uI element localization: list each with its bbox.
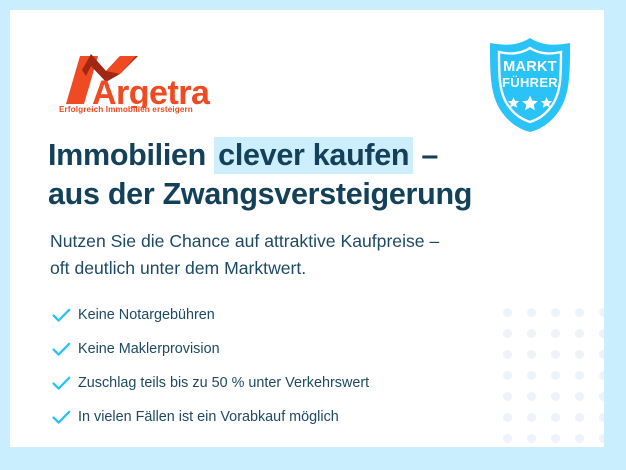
check-icon — [52, 339, 78, 359]
dot — [599, 308, 604, 317]
dot-row — [503, 413, 603, 422]
list-item-label: Zuschlag teils bis zu 50 % unter Verkehr… — [78, 376, 369, 390]
argetra-logo-mark: Argetra — [58, 52, 258, 108]
subheadline-line-2: oft deutlich unter dem Marktwert. — [50, 255, 530, 282]
list-item-label: Keine Maklerprovision — [78, 342, 220, 356]
dot — [503, 434, 512, 443]
dot — [551, 350, 560, 359]
dot — [503, 308, 512, 317]
headline-post: – — [413, 138, 438, 172]
headline: Immobilien clever kaufen – aus der Zwang… — [48, 136, 518, 214]
dot — [527, 413, 536, 422]
dot — [551, 308, 560, 317]
dot — [503, 371, 512, 380]
dot — [599, 371, 604, 380]
dot — [575, 308, 584, 317]
headline-highlight: clever kaufen — [214, 137, 413, 174]
dot — [575, 434, 584, 443]
subheadline: Nutzen Sie die Chance auf attraktive Kau… — [50, 228, 530, 281]
dot — [551, 392, 560, 401]
headline-line-1: Immobilien clever kaufen – — [48, 136, 518, 175]
check-icon — [52, 305, 78, 325]
dot — [527, 434, 536, 443]
markt-fuehrer-badge: MARKT FÜHRER — [484, 36, 576, 134]
shield-icon — [484, 36, 576, 134]
page-frame: Argetra Erfolgreich Immobilien ersteiger… — [0, 0, 626, 470]
dot — [527, 392, 536, 401]
headline-pre: Immobilien — [48, 138, 214, 172]
dot — [575, 413, 584, 422]
argetra-logo[interactable]: Argetra Erfolgreich Immobilien ersteiger… — [58, 52, 258, 122]
headline-line-2: aus der Zwangsversteigerung — [48, 175, 518, 214]
dot — [575, 371, 584, 380]
dot — [575, 392, 584, 401]
dot — [599, 413, 604, 422]
list-item: In vielen Fällen ist ein Vorabkauf mögli… — [52, 402, 482, 432]
dot — [551, 413, 560, 422]
dot — [599, 434, 604, 443]
svg-text:Argetra: Argetra — [92, 74, 211, 108]
dot — [503, 392, 512, 401]
dot-row — [503, 308, 603, 317]
dot-row — [503, 434, 603, 443]
dot — [599, 392, 604, 401]
dot — [527, 308, 536, 317]
logo-tagline: Erfolgreich Immobilien ersteigern — [59, 105, 193, 114]
check-icon — [52, 373, 78, 393]
list-item: Keine Maklerprovision — [52, 334, 482, 364]
dot — [551, 329, 560, 338]
dot — [503, 350, 512, 359]
dot — [527, 371, 536, 380]
dot-row — [503, 371, 603, 380]
list-item: Keine Notargebühren — [52, 300, 482, 330]
dot — [527, 329, 536, 338]
dot-row — [503, 329, 603, 338]
check-icon — [52, 407, 78, 427]
list-item-label: In vielen Fällen ist ein Vorabkauf mögli… — [78, 410, 339, 424]
dot — [503, 413, 512, 422]
dot — [599, 350, 604, 359]
benefit-list: Keine NotargebührenKeine Maklerprovision… — [52, 300, 482, 436]
dot — [503, 329, 512, 338]
subheadline-line-1: Nutzen Sie die Chance auf attraktive Kau… — [50, 228, 530, 255]
dot-row — [503, 392, 603, 401]
list-item-label: Keine Notargebühren — [78, 308, 215, 322]
dot-row — [503, 350, 603, 359]
dot-grid-decoration — [503, 308, 603, 447]
dot — [527, 350, 536, 359]
dot — [551, 371, 560, 380]
dot — [551, 434, 560, 443]
dot — [575, 350, 584, 359]
dot — [575, 329, 584, 338]
dot — [599, 329, 604, 338]
list-item: Zuschlag teils bis zu 50 % unter Verkehr… — [52, 368, 482, 398]
promo-card: Argetra Erfolgreich Immobilien ersteiger… — [10, 10, 604, 447]
